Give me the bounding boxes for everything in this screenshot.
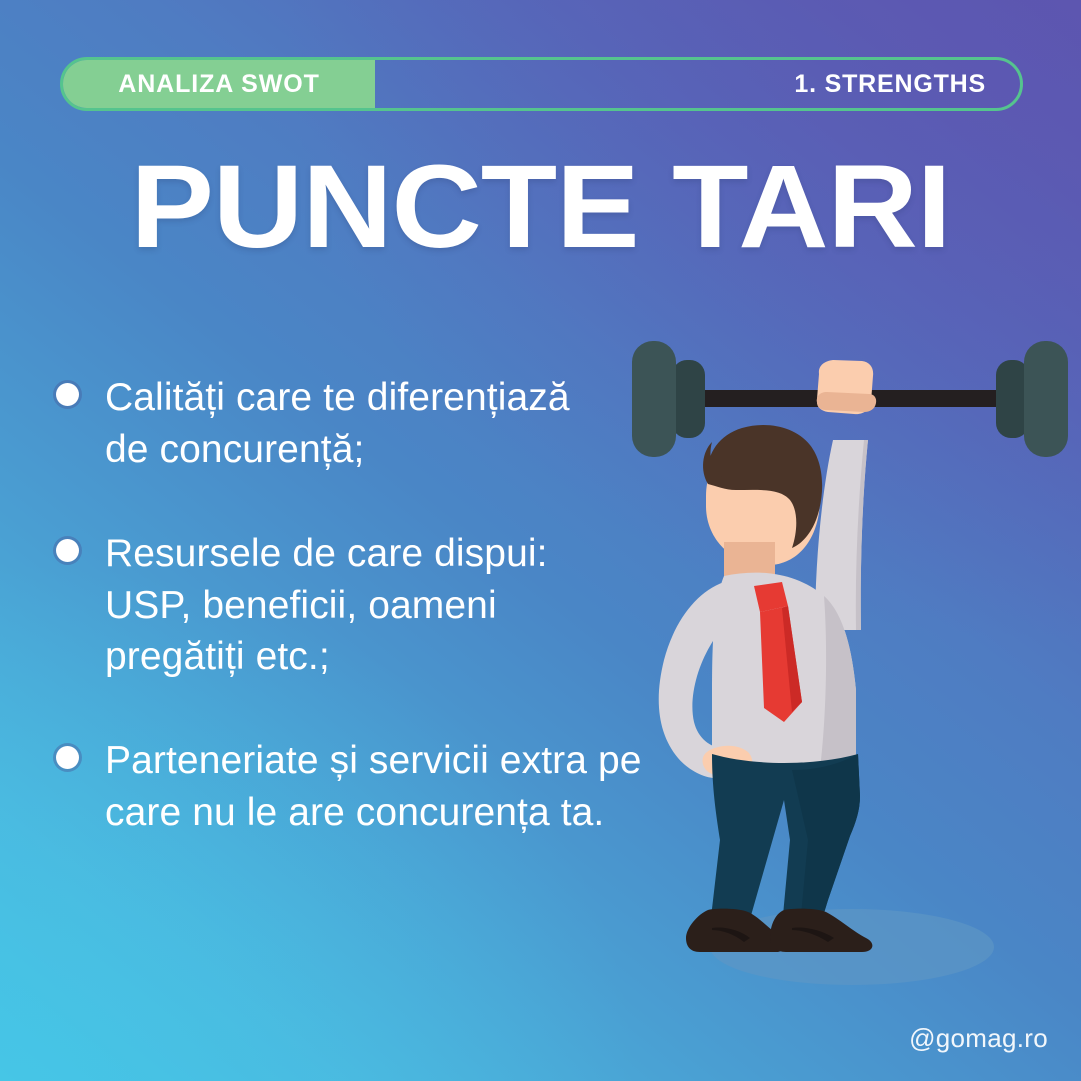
bullet-text: Resursele de care dispui: USP, beneficii…: [105, 528, 548, 684]
barbell-plate-right-outer: [1024, 341, 1068, 457]
header-bar: ANALIZA SWOT 1. STRENGTHS: [60, 57, 1023, 111]
category-label: ANALIZA SWOT: [118, 70, 320, 99]
infographic-canvas: ANALIZA SWOT 1. STRENGTHS PUNCTE TARI Ca…: [0, 0, 1081, 1081]
barbell-plate-left-inner: [672, 360, 705, 438]
bullet-text: Calități care te diferențiază de concure…: [105, 372, 570, 476]
bullet-dot-icon: [56, 383, 79, 406]
barbell-plate-left-outer: [632, 341, 676, 457]
bullet-dot-icon: [56, 539, 79, 562]
thumb: [817, 392, 876, 412]
section-area: 1. STRENGTHS: [375, 60, 1020, 108]
category-pill: ANALIZA SWOT: [63, 60, 375, 108]
illustration-businessman-lifting-barbell: [612, 330, 1081, 1010]
head: [703, 425, 822, 592]
section-label: 1. STRENGTHS: [794, 70, 986, 99]
bullet-dot-icon: [56, 746, 79, 769]
watermark: @gomag.ro: [909, 1023, 1048, 1054]
page-title: PUNCTE TARI: [0, 148, 1081, 266]
bullet-text: Parteneriate și servicii extra pe care n…: [105, 735, 642, 839]
fist: [817, 360, 876, 414]
